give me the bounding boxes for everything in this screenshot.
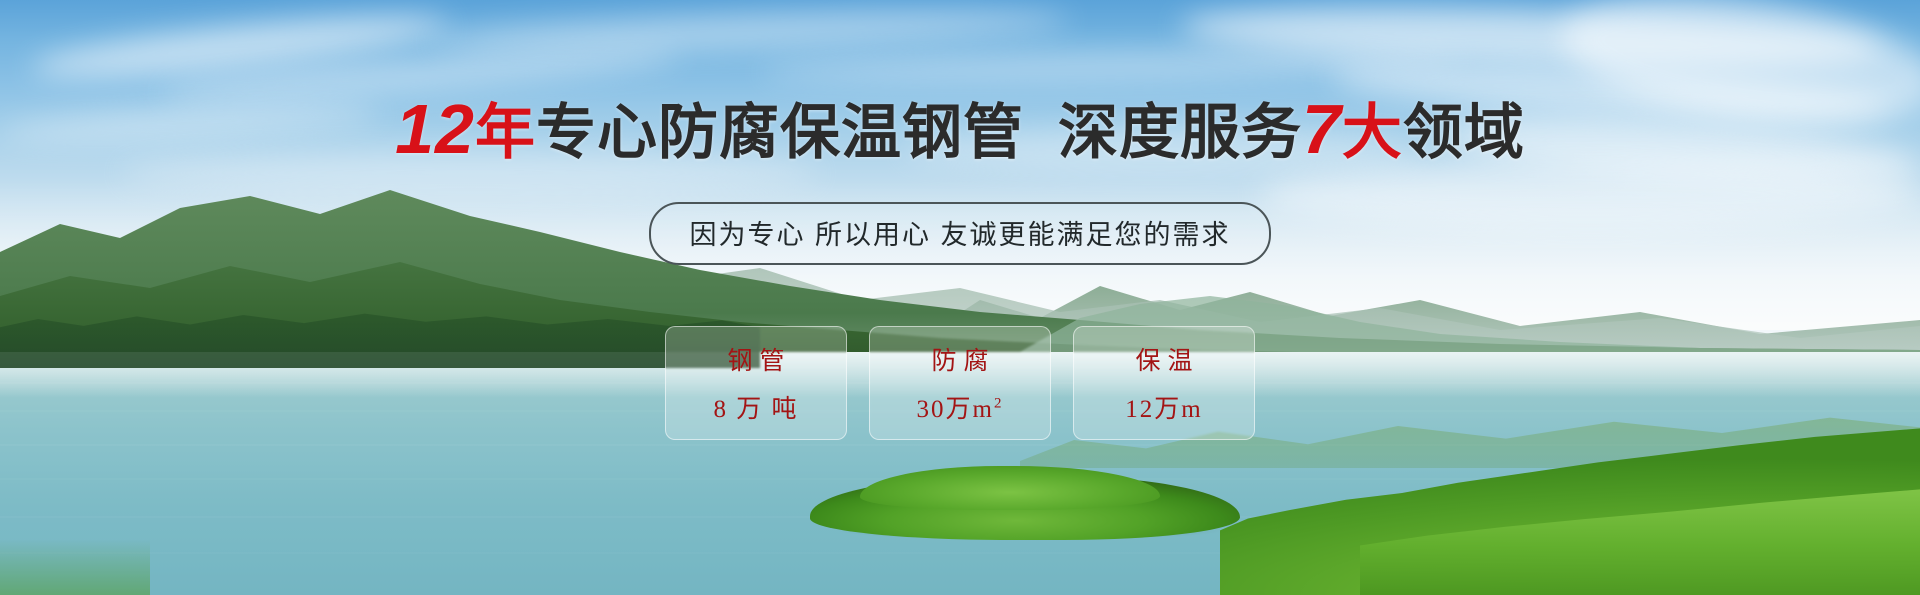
headline-fields-number: 7: [1302, 90, 1342, 168]
stat-value: 30万m2: [917, 389, 1004, 425]
stat-card-group: 钢管 8 万 吨 防腐 30万m2 保温 12万m: [0, 326, 1920, 440]
stat-card-insulation: 保温 12万m: [1073, 326, 1255, 440]
stat-value-text: 8 万 吨: [713, 396, 798, 423]
stat-value-text: 12万m: [1125, 396, 1202, 423]
page-title: 12年专心防腐保温钢管深度服务7大领域: [0, 84, 1920, 171]
subtitle-pill: 因为专心 所以用心 友诚更能满足您的需求: [649, 202, 1270, 265]
headline-years-number: 12: [395, 90, 475, 168]
headline-main-second: 深度服务: [1058, 99, 1302, 166]
headline-fields-unit: 大: [1342, 99, 1403, 166]
hero-banner: 12年专心防腐保温钢管深度服务7大领域 因为专心 所以用心 友诚更能满足您的需求…: [0, 0, 1920, 595]
foreground-grass-left: [0, 539, 150, 595]
stat-value: 8 万 吨: [713, 389, 798, 425]
headline-main-third: 领域: [1403, 99, 1525, 166]
stat-label: 钢管: [720, 341, 791, 377]
stat-card-anticorrosion: 防腐 30万m2: [869, 326, 1051, 440]
headline-main-first: 专心防腐保温钢管: [536, 99, 1024, 166]
subtitle-container: 因为专心 所以用心 友诚更能满足您的需求: [0, 202, 1920, 265]
stat-value: 12万m: [1125, 389, 1202, 425]
stat-card-steel-pipe: 钢管 8 万 吨: [665, 326, 847, 440]
headline-years-unit: 年: [475, 99, 536, 166]
stat-label: 防腐: [924, 341, 995, 377]
stat-value-superscript: 2: [994, 396, 1004, 412]
stat-label: 保温: [1128, 341, 1199, 377]
stat-value-text: 30万m: [917, 396, 994, 423]
